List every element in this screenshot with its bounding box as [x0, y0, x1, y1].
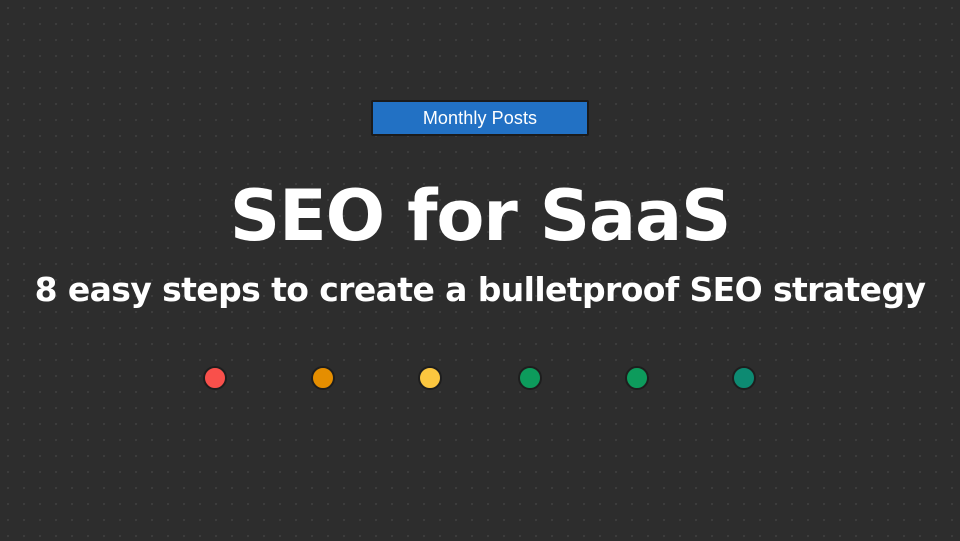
badge-row: Monthly Posts [0, 100, 960, 136]
progress-dot-row [203, 366, 755, 390]
step-dot-3[interactable] [418, 366, 442, 390]
step-dot-6[interactable] [732, 366, 756, 390]
step-dot-5[interactable] [625, 366, 649, 390]
slide-subtitle: 8 easy steps to create a bulletproof SEO… [0, 268, 960, 312]
step-dot-1[interactable] [203, 366, 227, 390]
step-dot-4[interactable] [518, 366, 542, 390]
presentation-slide: Monthly Posts SEO for SaaS 8 easy steps … [0, 0, 960, 541]
category-badge[interactable]: Monthly Posts [371, 100, 589, 136]
slide-title: SEO for SaaS [0, 174, 960, 258]
step-dot-2[interactable] [311, 366, 335, 390]
